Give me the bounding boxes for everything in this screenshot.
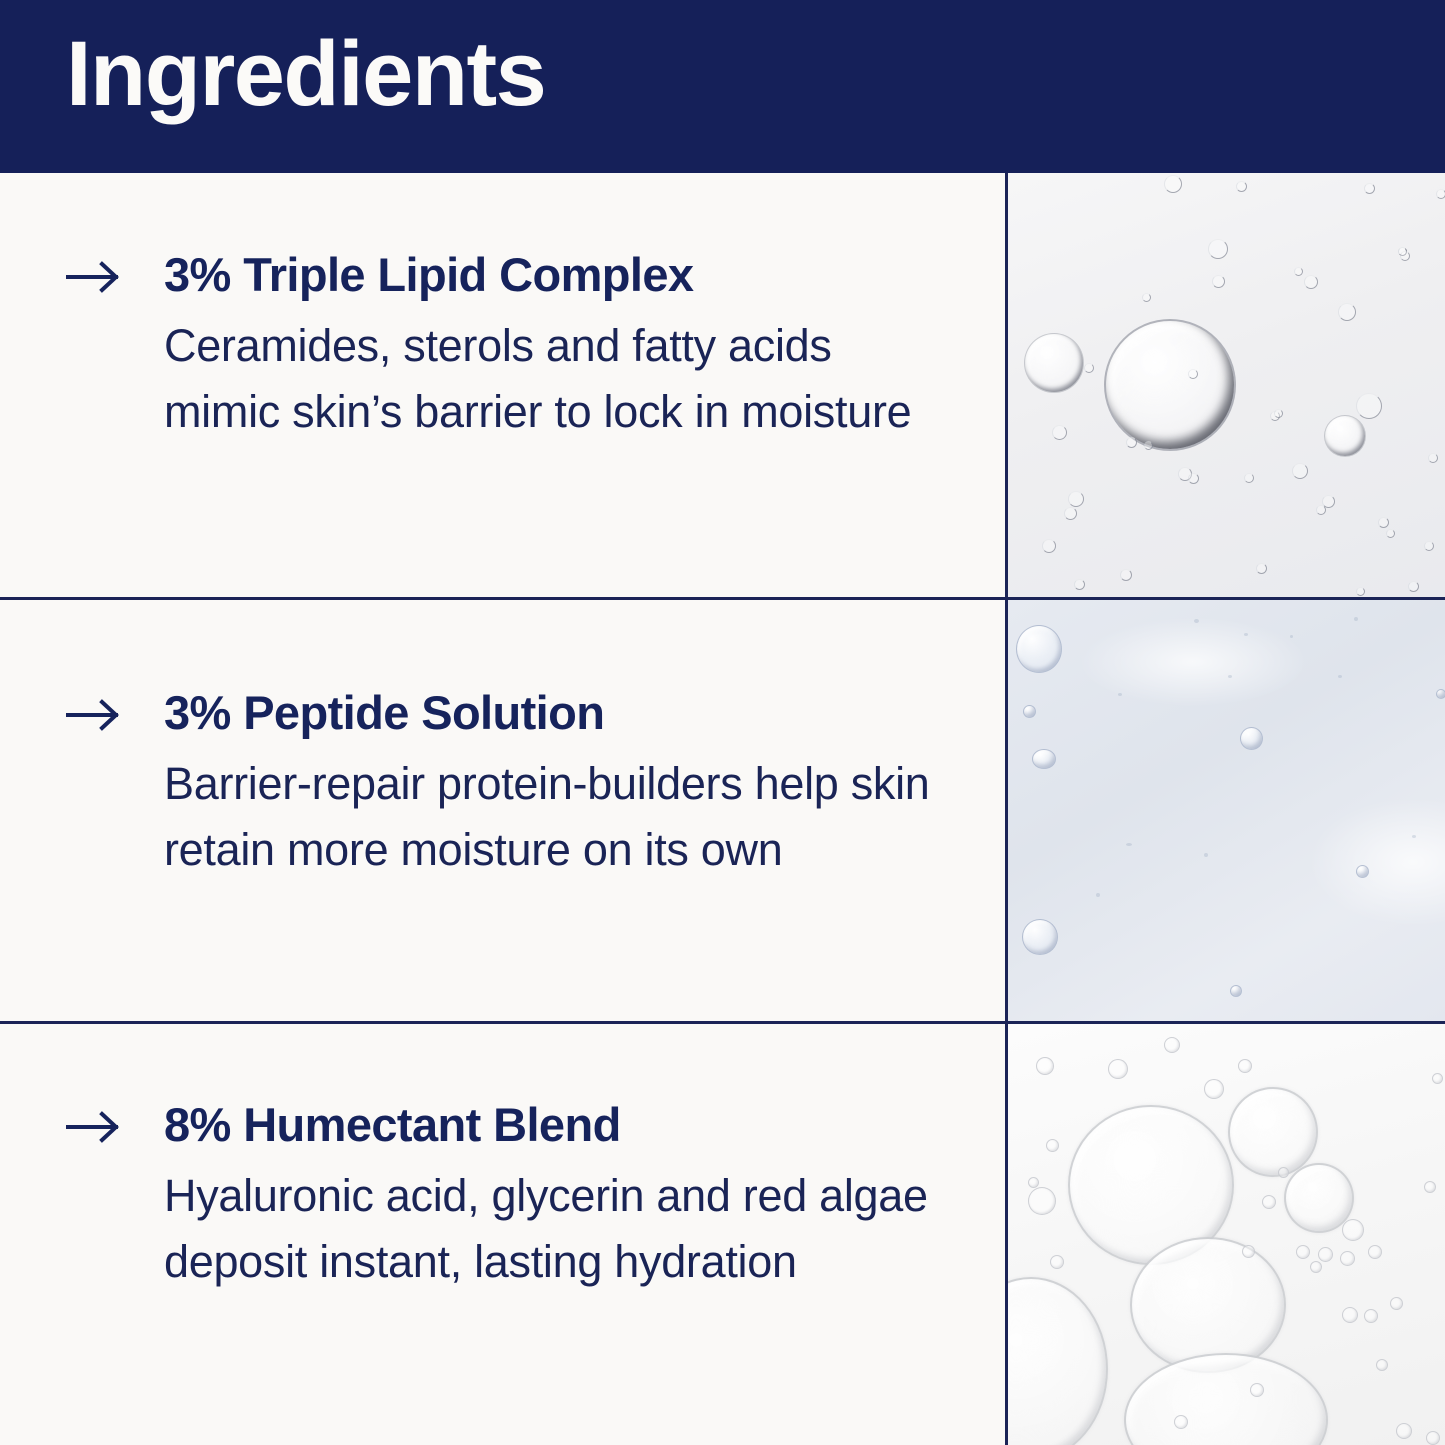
ingredient-text-cell-1: 3% Triple Lipid Complex Ceramides, stero…: [0, 173, 1005, 597]
arrow-right-icon: [66, 1107, 124, 1147]
ingredient-row-3: 8% Humectant Blend Hyaluronic acid, glyc…: [0, 1021, 1445, 1445]
ingredient-description-3: Hyaluronic acid, glycerin and red algae …: [164, 1163, 934, 1295]
ingredient-image-3: [1008, 1021, 1445, 1445]
arrow-right-icon: [66, 695, 124, 735]
ingredient-heading-2: 3% Peptide Solution: [164, 689, 604, 736]
ingredient-image-2: [1008, 597, 1445, 1021]
ingredient-row-2: 3% Peptide Solution Barrier-repair prote…: [0, 597, 1445, 1021]
ingredients-grid: 3% Triple Lipid Complex Ceramides, stero…: [0, 173, 1445, 1445]
ingredient-description-1: Ceramides, sterols and fatty acids mimic…: [164, 313, 934, 445]
ingredient-image-1: [1008, 173, 1445, 597]
ingredient-heading-3: 8% Humectant Blend: [164, 1101, 621, 1148]
page-title: Ingredients: [66, 26, 545, 123]
ingredient-text-cell-3: 8% Humectant Blend Hyaluronic acid, glyc…: [0, 1021, 1005, 1445]
ingredient-row-1: 3% Triple Lipid Complex Ceramides, stero…: [0, 173, 1445, 597]
ingredient-heading-1: 3% Triple Lipid Complex: [164, 251, 693, 298]
row-divider-1: [0, 597, 1445, 600]
arrow-right-icon: [66, 257, 124, 297]
row-divider-2: [0, 1021, 1445, 1024]
column-divider: [1005, 173, 1008, 1445]
ingredient-text-cell-2: 3% Peptide Solution Barrier-repair prote…: [0, 597, 1005, 1021]
header-banner: Ingredients: [0, 0, 1445, 173]
ingredients-infographic: Ingredients 3% Triple Lipid Complex Cera…: [0, 0, 1445, 1445]
ingredient-description-2: Barrier-repair protein-builders help ski…: [164, 751, 934, 883]
